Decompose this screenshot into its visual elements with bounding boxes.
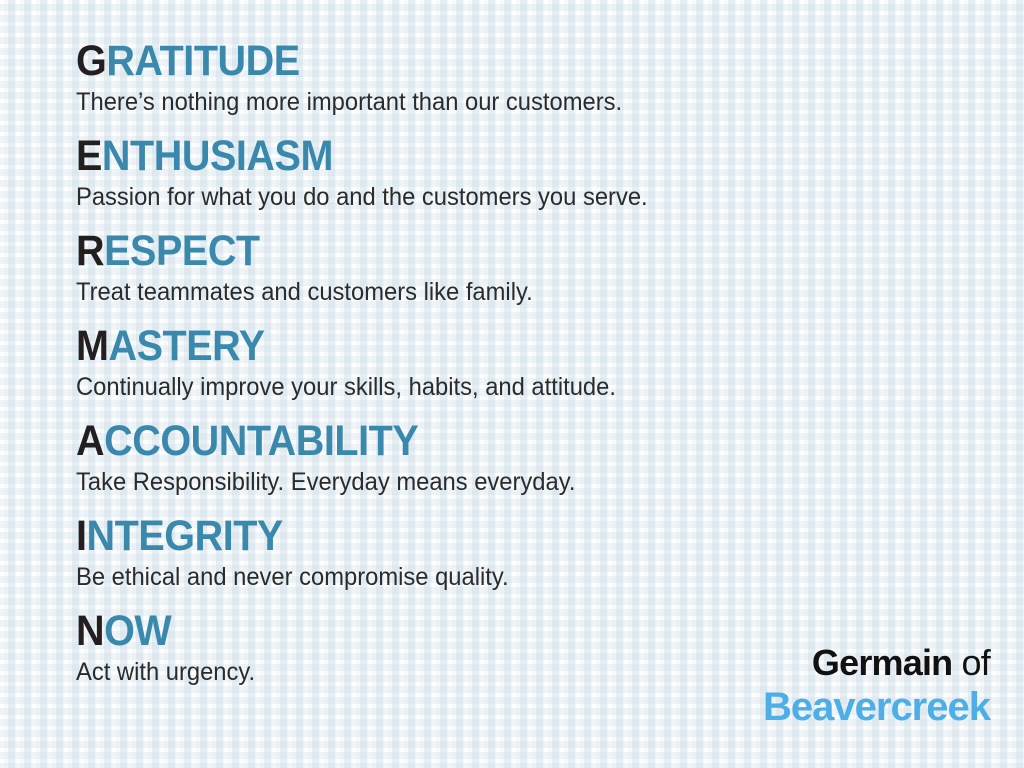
value-heading-enthusiasm: ENTHUSIASM — [76, 131, 904, 181]
value-description-enthusiasm: Passion for what you do and the customer… — [76, 181, 931, 214]
value-entry-respect: RESPECT Treat teammates and customers li… — [76, 226, 976, 309]
value-initial-letter: I — [76, 512, 87, 560]
value-heading-respect: RESPECT — [76, 226, 904, 276]
value-heading-remainder: RATITUDE — [106, 37, 299, 85]
value-heading-remainder: OW — [104, 607, 171, 655]
value-entry-gratitude: GRATITUDE There’s nothing more important… — [76, 36, 976, 119]
value-description-accountability: Take Responsibility. Everyday means ever… — [76, 466, 931, 499]
brand-logo: Germain of Beavercreek — [763, 642, 990, 730]
value-heading-gratitude: GRATITUDE — [76, 36, 904, 86]
value-heading-mastery: MASTERY — [76, 321, 904, 371]
value-description-gratitude: There’s nothing more important than our … — [76, 86, 931, 119]
value-initial-letter: R — [76, 227, 104, 275]
core-values-poster: GRATITUDE There’s nothing more important… — [0, 0, 1024, 768]
value-initial-letter: E — [76, 132, 102, 180]
value-heading-integrity: INTEGRITY — [76, 511, 904, 561]
value-heading-remainder: NTHUSIASM — [102, 132, 333, 180]
value-initial-letter: N — [76, 607, 104, 655]
value-entry-accountability: ACCOUNTABILITY Take Responsibility. Ever… — [76, 416, 976, 499]
value-heading-accountability: ACCOUNTABILITY — [76, 416, 904, 466]
brand-location: Beavercreek — [763, 684, 990, 730]
brand-logo-line-top: Germain of — [763, 642, 990, 684]
core-values-list: GRATITUDE There’s nothing more important… — [76, 36, 976, 701]
value-heading-remainder: ASTERY — [109, 322, 265, 370]
value-description-integrity: Be ethical and never compromise quality. — [76, 561, 931, 594]
value-description-respect: Treat teammates and customers like famil… — [76, 276, 931, 309]
value-entry-integrity: INTEGRITY Be ethical and never compromis… — [76, 511, 976, 594]
value-initial-letter: M — [76, 322, 109, 370]
value-entry-enthusiasm: ENTHUSIASM Passion for what you do and t… — [76, 131, 976, 214]
value-description-mastery: Continually improve your skills, habits,… — [76, 371, 931, 404]
brand-connector-word: of — [952, 642, 990, 683]
value-heading-remainder: ESPECT — [104, 227, 260, 275]
brand-name: Germain — [812, 642, 952, 683]
value-initial-letter: A — [76, 417, 104, 465]
value-heading-remainder: CCOUNTABILITY — [104, 417, 418, 465]
value-initial-letter: G — [76, 37, 106, 85]
value-heading-remainder: NTEGRITY — [87, 512, 283, 560]
value-entry-mastery: MASTERY Continually improve your skills,… — [76, 321, 976, 404]
